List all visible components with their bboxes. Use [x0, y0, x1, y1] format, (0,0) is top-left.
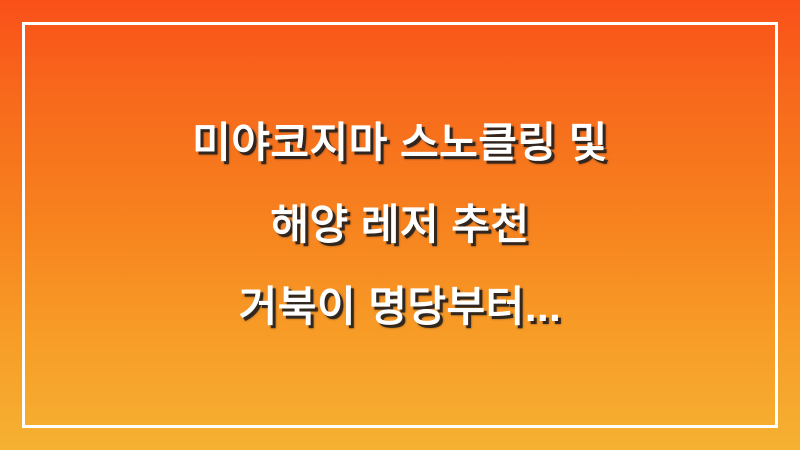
- title-line-3: 거북이 명당부터...: [46, 266, 754, 348]
- title-line-2: 해양 레저 추천: [46, 184, 754, 266]
- title-block: 미야코지마 스노클링 및 해양 레저 추천 거북이 명당부터...: [0, 0, 800, 450]
- title-line-1: 미야코지마 스노클링 및: [46, 102, 754, 184]
- thumbnail-card: 미야코지마 스노클링 및 해양 레저 추천 거북이 명당부터...: [0, 0, 800, 450]
